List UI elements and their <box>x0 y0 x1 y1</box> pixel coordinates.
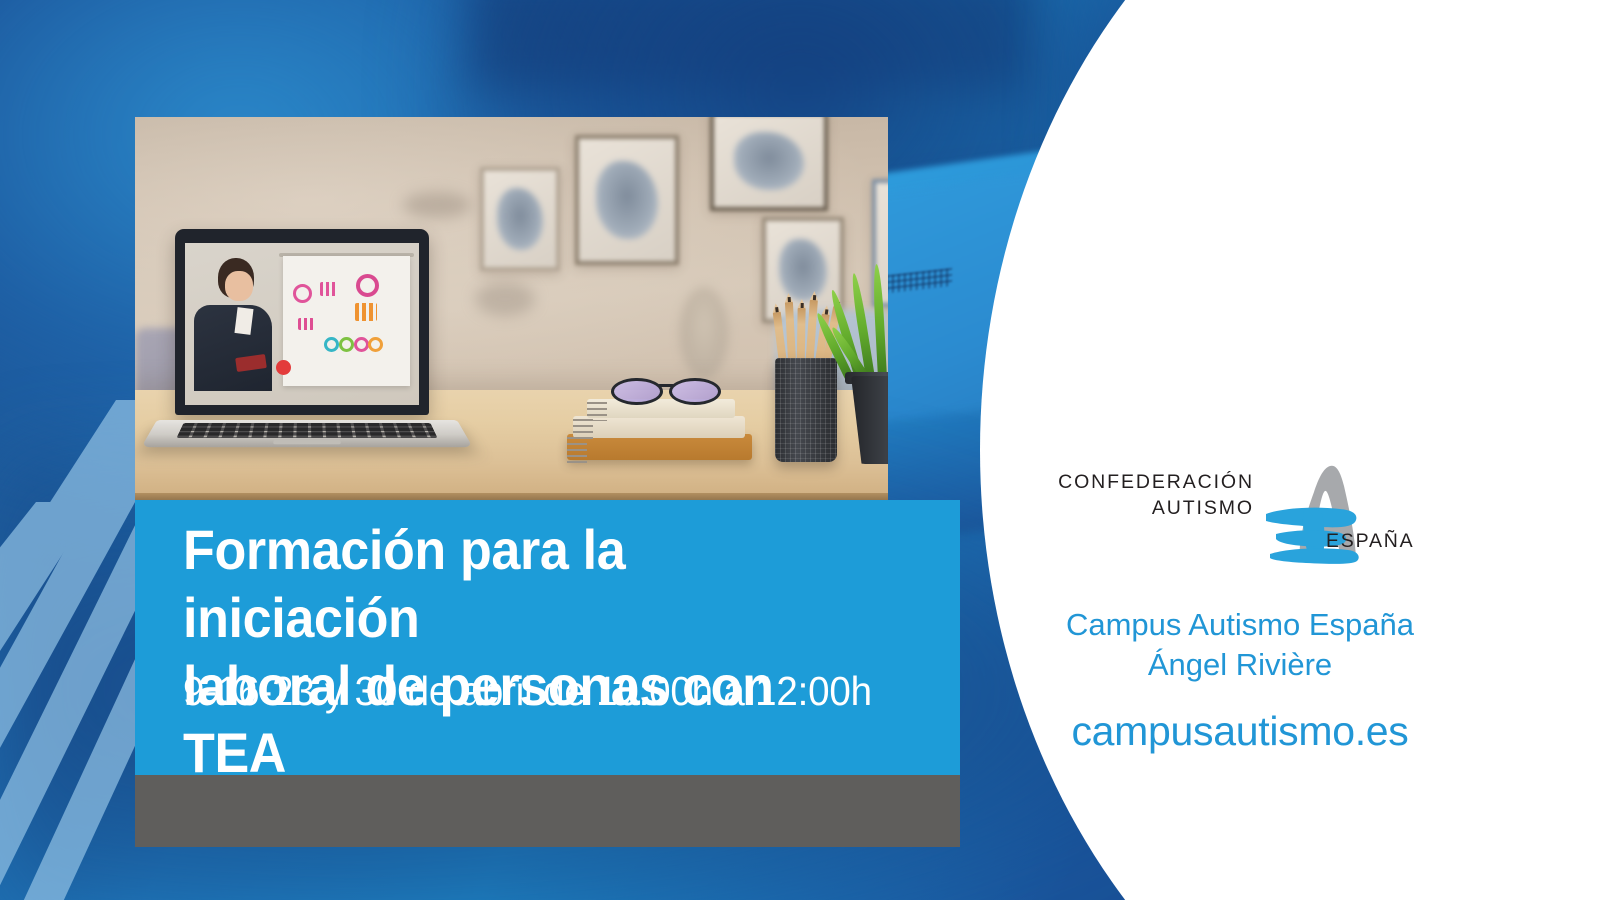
desk-photo <box>135 117 888 502</box>
photo-wall-smudge <box>475 282 535 316</box>
circle-icon <box>368 337 383 352</box>
wall-picture-frame <box>575 135 679 265</box>
laptop-keys <box>177 423 438 438</box>
screen-presenter-face <box>225 271 253 301</box>
plant-leaves <box>835 260 888 378</box>
title-line-1: Formación para la iniciación <box>183 516 871 652</box>
promo-banner: Formación para la iniciación laboral de … <box>0 0 1600 900</box>
pencil-holder <box>775 358 837 462</box>
pencil-holder-mesh <box>775 358 837 462</box>
eyeglasses <box>611 376 721 402</box>
circle-icon <box>339 337 354 352</box>
confederacion-autismo-espana-logo: CONFEDERACIÓN AUTISMO ESPAÑA <box>1058 462 1428 572</box>
website-url[interactable]: campusautismo.es <box>990 708 1490 755</box>
call-end-icon <box>276 360 291 375</box>
title-panel: Formación para la iniciación laboral de … <box>135 500 960 775</box>
bar-chart-icon <box>298 318 314 330</box>
laptop <box>157 229 457 464</box>
logo-line-2: AUTISMO <box>1058 496 1254 522</box>
screen-presenter-body <box>194 305 272 391</box>
laptop-keyboard-base <box>141 420 473 447</box>
wall-picture-frame <box>480 167 560 271</box>
gray-footer-bar <box>135 775 960 847</box>
wall-picture-frame <box>710 117 828 211</box>
pie-chart-icon <box>293 284 312 303</box>
campus-name: Campus Autismo España Ángel Rivière <box>990 605 1490 684</box>
circle-icon <box>354 337 369 352</box>
laptop-lid <box>175 229 429 415</box>
laptop-screen <box>185 243 419 405</box>
donut-chart-icon <box>356 274 379 297</box>
bar-chart-icon <box>320 282 338 296</box>
campus-line-2: Ángel Rivière <box>990 645 1490 685</box>
logo-line-1: CONFEDERACIÓN <box>1058 470 1254 496</box>
photo-wall-smudge <box>403 192 471 218</box>
laptop-trackpad <box>273 440 341 444</box>
page-title: Formación para la iniciación laboral de … <box>183 516 871 787</box>
circle-icon <box>324 337 339 352</box>
logo-wordmark: CONFEDERACIÓN AUTISMO <box>1058 470 1254 521</box>
logo-country-label: ESPAÑA <box>1326 530 1414 553</box>
eyeglass-lens <box>669 378 721 405</box>
screen-chart-cards <box>288 262 410 382</box>
eyeglass-lens <box>611 378 663 405</box>
event-date-text: 9-16-23 y 30 de abril de 10:00h a 12:00h <box>183 667 897 716</box>
campus-line-1: Campus Autismo España <box>990 605 1490 645</box>
bar-chart-icon <box>355 303 377 321</box>
white-panel-fill <box>1480 0 1600 900</box>
